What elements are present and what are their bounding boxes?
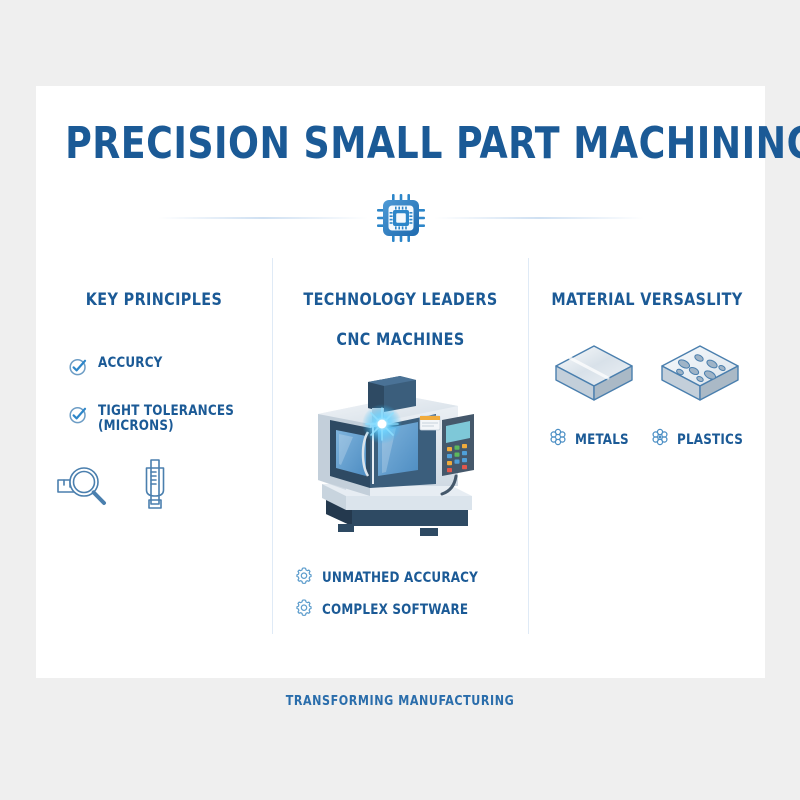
cnc-features-list: UNMATHED ACCURACY COMPLEX SOFTWARE: [273, 566, 528, 621]
horizontal-rule-right: [434, 217, 644, 219]
footer-tagline: TRANSFORMING MANUFACTURING: [20, 694, 780, 709]
cnc-subheading: CNC MACHINES: [281, 330, 521, 350]
material-blocks: [529, 338, 765, 417]
list-item-label: UNMATHED ACCURACY: [322, 570, 478, 586]
caliper-icon: [138, 456, 172, 517]
metal-block-icon: [548, 338, 640, 417]
list-item: PLASTICS: [650, 427, 747, 452]
list-item-label: METALS: [575, 432, 629, 448]
title-divider-row: [36, 185, 765, 251]
column-material-versatility: MATERIAL VERSASLITY: [529, 258, 765, 634]
list-item-label: PLASTICS: [677, 432, 743, 448]
horizontal-rule-left: [158, 217, 368, 219]
page-title: PRECISION SMALL PART MACHINING: [65, 122, 736, 166]
column-key-principles: KEY PRINCIPLES ACCURCY: [36, 258, 272, 634]
list-item: ACCURCY: [68, 356, 272, 382]
check-circle-icon: [68, 405, 88, 430]
principles-list: ACCURCY TIGHT TOLERANCES (MICRONS): [36, 356, 272, 434]
check-circle-icon: [68, 357, 88, 382]
content-card: PRECISION SMALL PART MACHINING: [36, 86, 765, 678]
infographic-poster: PRECISION SMALL PART MACHINING: [0, 0, 800, 800]
column-technology-leaders: TECHNOLOGY LEADERS CNC MACHINES: [273, 258, 528, 634]
list-item: TIGHT TOLERANCES (MICRONS): [68, 404, 272, 434]
column-heading-technology-leaders: TECHNOLOGY LEADERS: [281, 290, 521, 310]
list-item: METALS: [548, 427, 632, 452]
magnifier-ruler-icon: [54, 458, 116, 515]
columns-area: KEY PRINCIPLES ACCURCY: [36, 258, 765, 638]
material-labels: METALS: [529, 427, 765, 452]
measurement-icons: [36, 456, 272, 517]
list-item-label: ACCURCY: [98, 356, 163, 371]
plastic-block-icon: [654, 338, 746, 417]
cnc-milling-machine-illustration: [273, 358, 528, 548]
cpu-chip-icon: [368, 185, 434, 251]
column-heading-key-principles: KEY PRINCIPLES: [43, 290, 265, 310]
list-item: UNMATHED ACCURACY: [295, 566, 528, 589]
list-item-label: TIGHT TOLERANCES (MICRONS): [98, 404, 234, 434]
column-heading-material-versatility: MATERIAL VERSASLITY: [536, 290, 758, 310]
gear-icon: [295, 566, 313, 589]
list-item-label: COMPLEX SOFTWARE: [322, 602, 468, 618]
gear-icon: [295, 598, 313, 621]
atom-icon: [548, 427, 568, 452]
list-item: COMPLEX SOFTWARE: [295, 598, 528, 621]
atom-icon: [650, 427, 670, 452]
